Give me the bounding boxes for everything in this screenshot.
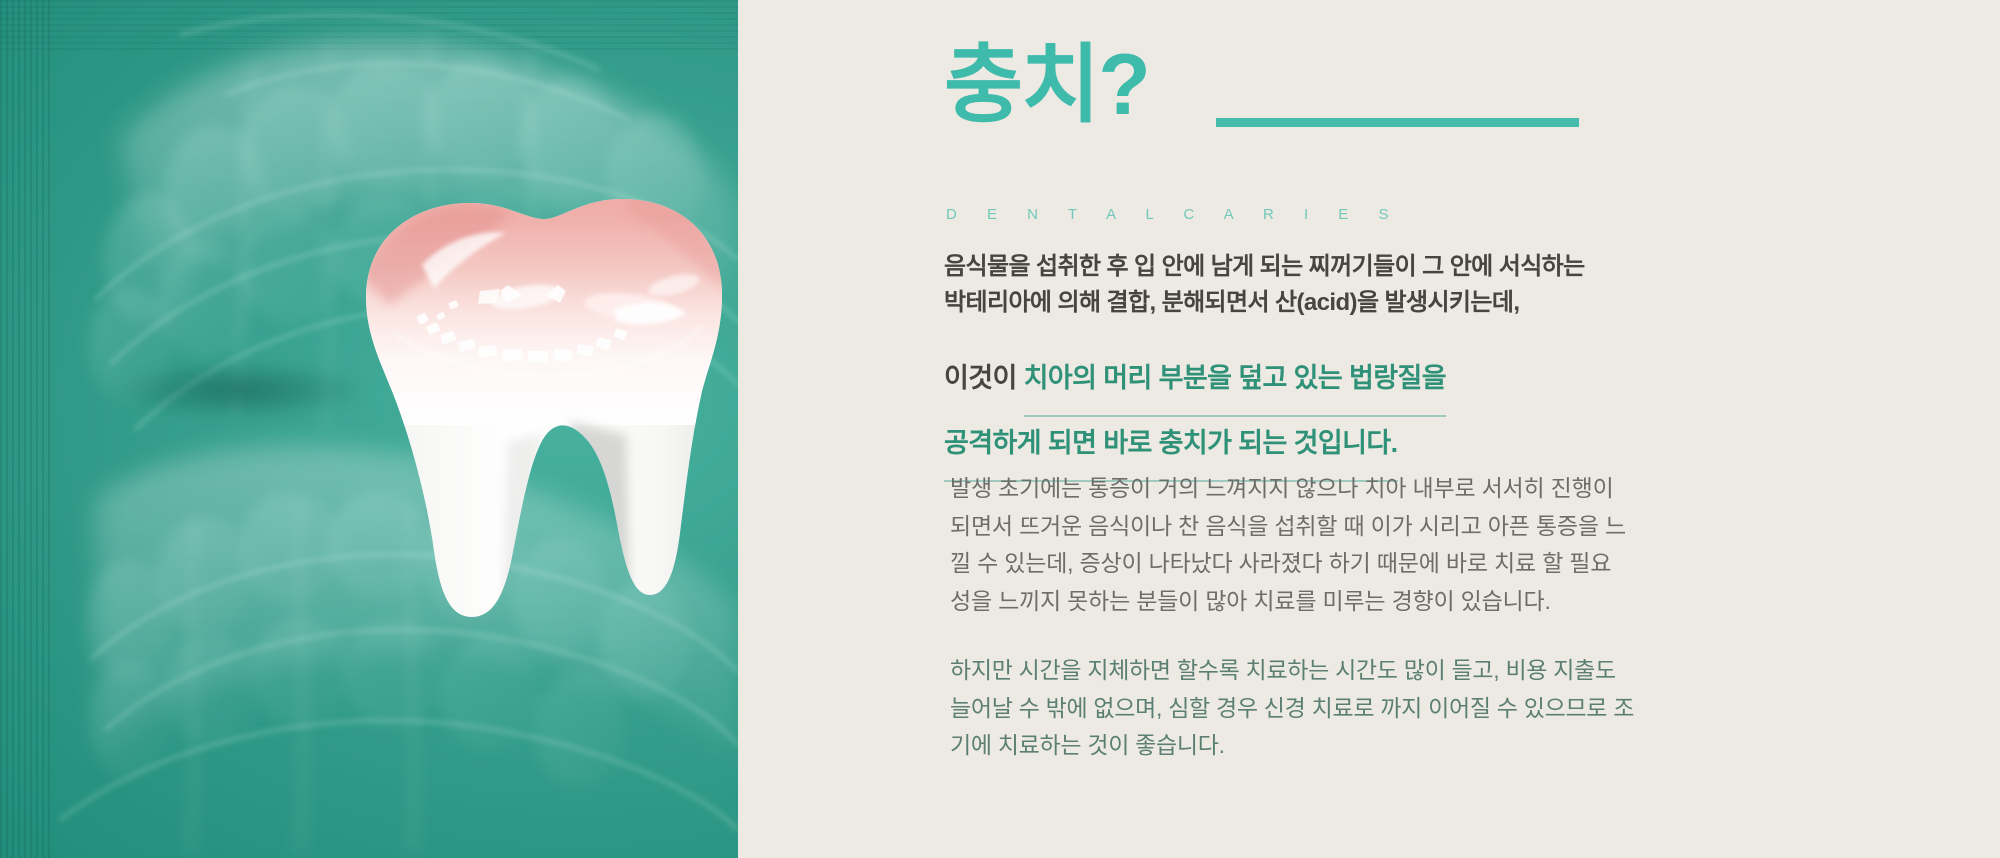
highlight-lead: 이것이 <box>944 363 1024 393</box>
paragraph-intro: 음식물을 섭취한 후 입 안에 남게 되는 찌꺼기들이 그 안에 서식하는 박테… <box>944 249 1604 321</box>
paragraph-symptoms: 발생 초기에는 통증이 거의 느껴지지 않으나 치아 내부로 서서히 진행이 되… <box>950 470 1630 620</box>
hero-banner: 충치? D E N T A L C A R I E S 음식물을 섭취한 후 입… <box>0 0 2000 858</box>
page-subtitle: D E N T A L C A R I E S <box>946 206 1401 223</box>
highlight-line-1: 치아의 머리 부분을 덮고 있는 법랑질을 <box>1024 352 1446 417</box>
page-title: 충치? <box>944 42 1149 128</box>
molar-tooth-graphic <box>330 185 750 625</box>
text-content-panel: 충치? D E N T A L C A R I E S 음식물을 섭취한 후 입… <box>944 0 1944 858</box>
paragraph-advice: 하지만 시간을 지체하면 할수록 치료하는 시간도 많이 들고, 비용 지출도 … <box>950 652 1640 765</box>
paragraph-highlight: 이것이 치아의 머리 부분을 덮고 있는 법랑질을 공격하게 되면 바로 충치가… <box>944 352 1624 482</box>
headline-row: 충치? <box>944 42 1644 152</box>
title-rule <box>1216 118 1579 127</box>
